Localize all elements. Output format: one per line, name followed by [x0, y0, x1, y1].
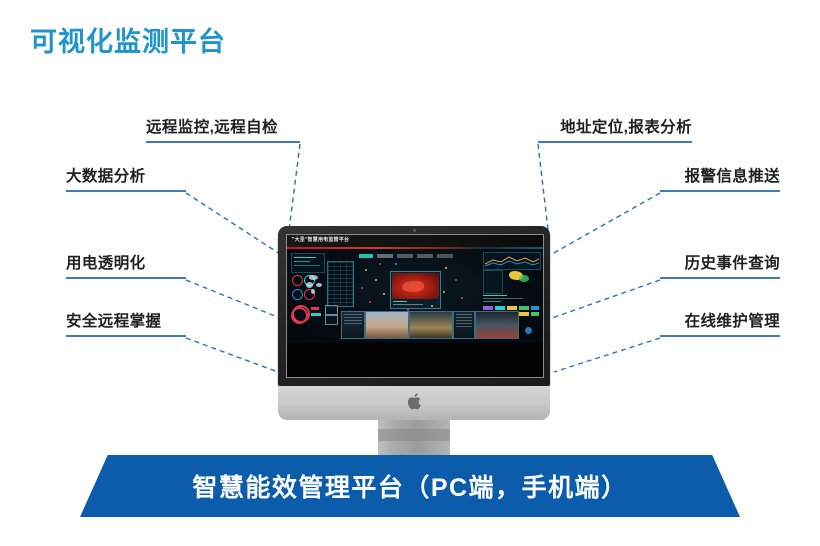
gauge-ring-1	[292, 275, 303, 286]
camera-thumb-5[interactable]	[475, 311, 519, 339]
camera-thumb-2[interactable]	[365, 311, 409, 339]
feature-right-2-label: 报警信息推送	[660, 167, 780, 187]
feature-left-4-underline	[66, 335, 186, 337]
feature-right-1-underline	[538, 141, 692, 143]
feature-right-3[interactable]: 历史事件查询	[660, 254, 780, 279]
page-title: 可视化监测平台	[30, 20, 226, 59]
map-shape-2	[306, 282, 313, 288]
connector-right-3	[552, 280, 660, 318]
map-dot	[395, 263, 397, 265]
highlight-shape	[519, 275, 529, 282]
feature-right-1-label: 地址定位,报表分析	[538, 118, 692, 138]
map-dot	[431, 305, 433, 307]
apple-logo-icon	[406, 393, 422, 412]
monitor-bezel: "大圣"智慧用电监管平台	[278, 226, 550, 386]
panel-right-meter	[483, 270, 503, 294]
map-shape-3	[316, 283, 322, 287]
camera-thumb-1[interactable]	[341, 311, 365, 339]
feature-left-4[interactable]: 安全远程掌握	[66, 312, 186, 337]
bottom-banner: 智慧能效管理平台（PC端，手机端）	[80, 455, 740, 517]
gauge-ring-3	[292, 289, 303, 300]
map-dot	[443, 291, 445, 293]
feature-left-1-label: 远程监控,远程自检	[146, 118, 300, 138]
feature-left-3[interactable]: 用电透明化	[66, 254, 186, 279]
feature-left-3-label: 用电透明化	[66, 254, 186, 274]
map-shape-4	[311, 289, 315, 294]
feature-left-1[interactable]: 远程监控,远程自检	[146, 118, 300, 143]
connector-left-1	[288, 144, 300, 238]
map-dot	[455, 279, 457, 281]
connector-left-3	[186, 280, 280, 318]
camera-thumb-4[interactable]	[453, 311, 475, 339]
dashboard-title: "大圣"智慧用电监管平台	[292, 236, 349, 243]
monitor-screen[interactable]: "大圣"智慧用电监管平台	[286, 234, 544, 378]
connector-right-1	[538, 144, 549, 238]
nav-tab-2[interactable]	[397, 254, 413, 258]
feature-left-3-underline	[66, 277, 186, 279]
map-dot	[445, 267, 447, 269]
feature-left-2-label: 大数据分析	[66, 167, 186, 187]
feature-right-4[interactable]: 在线维护管理	[660, 312, 780, 337]
feature-left-1-underline	[146, 141, 300, 143]
banner-text: 智慧能效管理平台（PC端，手机端）	[80, 455, 740, 517]
panel-left-top	[291, 253, 325, 273]
connector-left-2	[186, 193, 280, 254]
imac-monitor: "大圣"智慧用电监管平台	[278, 226, 550, 458]
feature-right-3-underline	[660, 277, 780, 279]
feature-left-4-label: 安全远程掌握	[66, 312, 186, 332]
dashboard-header: "大圣"智慧用电监管平台	[287, 235, 543, 247]
map-dot	[365, 269, 367, 271]
data-grid-table	[327, 261, 354, 307]
connector-right-2	[552, 193, 660, 254]
feature-right-1[interactable]: 地址定位,报表分析	[538, 118, 692, 143]
feature-left-2-underline	[66, 190, 186, 192]
monitor-chin	[278, 386, 550, 420]
connector-left-4	[186, 338, 278, 372]
nav-tab-4[interactable]	[437, 254, 453, 258]
feature-right-3-label: 历史事件查询	[660, 254, 780, 274]
nav-tab-0[interactable]	[359, 254, 373, 258]
feature-right-4-label: 在线维护管理	[660, 312, 780, 332]
featured-media-card[interactable]	[390, 271, 441, 309]
camera-thumb-3[interactable]	[409, 311, 453, 339]
map-dot	[379, 263, 381, 265]
map-shape-1	[309, 275, 318, 280]
poster-canvas: 可视化监测平台 远程监控,远程自检 大数据分析 用电透明化 安全远程掌握 地址定…	[0, 0, 820, 546]
map-dot	[375, 279, 377, 281]
featured-media-thumbnail	[392, 273, 439, 299]
connector-right-4	[554, 338, 660, 372]
webcam-icon	[413, 229, 416, 232]
monitor-stand-neck	[378, 420, 450, 456]
feature-right-2[interactable]: 报警信息推送	[660, 167, 780, 192]
nav-tab-3[interactable]	[417, 254, 433, 258]
map-dot	[361, 287, 363, 289]
screen-black-area	[287, 343, 543, 377]
dashboard: "大圣"智慧用电监管平台	[287, 235, 543, 343]
dashboard-body	[287, 249, 543, 343]
status-indicator	[525, 327, 532, 334]
map-dot	[369, 301, 371, 303]
map-dot	[383, 293, 385, 295]
feature-right-4-underline	[660, 335, 780, 337]
panel-right-chart	[483, 252, 541, 270]
feature-right-2-underline	[660, 190, 780, 192]
feature-left-2[interactable]: 大数据分析	[66, 167, 186, 192]
nav-tab-1[interactable]	[377, 254, 393, 258]
map-dot	[461, 297, 463, 299]
